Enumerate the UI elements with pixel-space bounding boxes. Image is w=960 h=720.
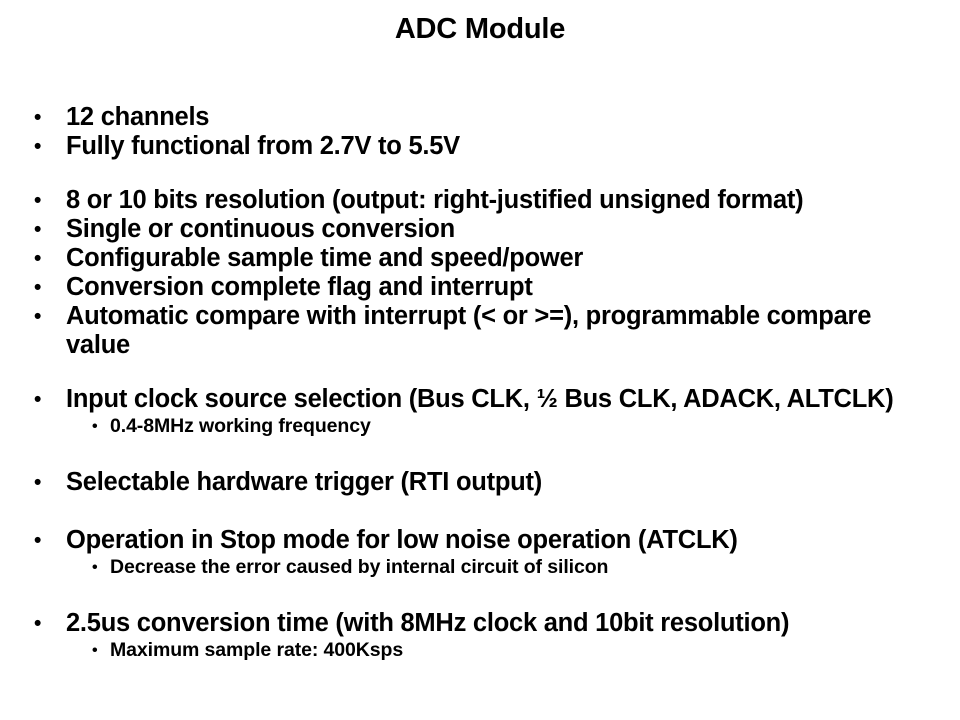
block-spacer bbox=[26, 161, 942, 186]
sub-bullet-marker-icon: • bbox=[26, 638, 110, 663]
sub-bullet-marker-icon: • bbox=[26, 414, 110, 439]
bullet-marker-icon: • bbox=[26, 186, 66, 215]
list-item-label: Input clock source selection (Bus CLK, ½… bbox=[66, 385, 934, 414]
bullet-marker-icon: • bbox=[26, 526, 66, 555]
sub-list-item-label: Maximum sample rate: 400Ksps bbox=[110, 638, 942, 663]
list-item-label: Operation in Stop mode for low noise ope… bbox=[66, 526, 934, 555]
list-item: • Single or continuous conversion bbox=[26, 215, 942, 244]
bullet-block-stop-mode: • Operation in Stop mode for low noise o… bbox=[26, 526, 942, 580]
bullet-marker-icon: • bbox=[26, 103, 66, 132]
page-title: ADC Module bbox=[0, 12, 960, 46]
bullet-marker-icon: • bbox=[26, 385, 66, 414]
list-item-label: Selectable hardware trigger (RTI output) bbox=[66, 468, 934, 497]
list-item: • 12 channels bbox=[26, 103, 942, 132]
list-item-label: Automatic compare with interrupt (< or >… bbox=[66, 302, 934, 360]
block-spacer bbox=[26, 497, 942, 526]
sub-list-item: • Maximum sample rate: 400Ksps bbox=[26, 638, 942, 663]
bullet-block-basics: • 12 channels • Fully functional from 2.… bbox=[26, 103, 942, 161]
slide-canvas: ADC Module • 12 channels • Fully functio… bbox=[0, 0, 960, 720]
bullet-marker-icon: • bbox=[26, 215, 66, 244]
list-item: • Configurable sample time and speed/pow… bbox=[26, 244, 942, 273]
list-item: • 8 or 10 bits resolution (output: right… bbox=[26, 186, 942, 215]
sub-bullet-marker-icon: • bbox=[26, 555, 110, 580]
list-item-label: Fully functional from 2.7V to 5.5V bbox=[66, 132, 934, 161]
list-item: • 2.5us conversion time (with 8MHz clock… bbox=[26, 609, 942, 638]
bullet-block-timing: • 2.5us conversion time (with 8MHz clock… bbox=[26, 609, 942, 663]
bullet-marker-icon: • bbox=[26, 132, 66, 161]
list-item-label: Configurable sample time and speed/power bbox=[66, 244, 934, 273]
bullet-marker-icon: • bbox=[26, 302, 66, 331]
list-item-label: 2.5us conversion time (with 8MHz clock a… bbox=[66, 609, 934, 638]
sub-list-item: • 0.4-8MHz working frequency bbox=[26, 414, 942, 439]
bullet-block-clock: • Input clock source selection (Bus CLK,… bbox=[26, 385, 942, 439]
bullet-block-conversion: • 8 or 10 bits resolution (output: right… bbox=[26, 186, 942, 360]
list-item: • Conversion complete flag and interrupt bbox=[26, 273, 942, 302]
list-item-label: Conversion complete flag and interrupt bbox=[66, 273, 934, 302]
bullet-marker-icon: • bbox=[26, 609, 66, 638]
block-spacer bbox=[26, 439, 942, 468]
list-item-label: 12 channels bbox=[66, 103, 934, 132]
list-item: • Input clock source selection (Bus CLK,… bbox=[26, 385, 942, 414]
list-item: • Selectable hardware trigger (RTI outpu… bbox=[26, 468, 942, 497]
block-spacer bbox=[26, 580, 942, 609]
bullet-marker-icon: • bbox=[26, 244, 66, 273]
block-spacer bbox=[26, 360, 942, 385]
list-item: • Operation in Stop mode for low noise o… bbox=[26, 526, 942, 555]
bullet-marker-icon: • bbox=[26, 468, 66, 497]
sub-list-item: • Decrease the error caused by internal … bbox=[26, 555, 942, 580]
bullet-block-trigger: • Selectable hardware trigger (RTI outpu… bbox=[26, 468, 942, 497]
sub-list-item-label: Decrease the error caused by internal ci… bbox=[110, 555, 942, 580]
bullet-marker-icon: • bbox=[26, 273, 66, 302]
list-item-label: Single or continuous conversion bbox=[66, 215, 934, 244]
list-item: • Automatic compare with interrupt (< or… bbox=[26, 302, 942, 360]
bullet-list: • 12 channels • Fully functional from 2.… bbox=[26, 103, 942, 663]
list-item: • Fully functional from 2.7V to 5.5V bbox=[26, 132, 942, 161]
list-item-label: 8 or 10 bits resolution (output: right-j… bbox=[66, 186, 934, 215]
sub-list-item-label: 0.4-8MHz working frequency bbox=[110, 414, 942, 439]
